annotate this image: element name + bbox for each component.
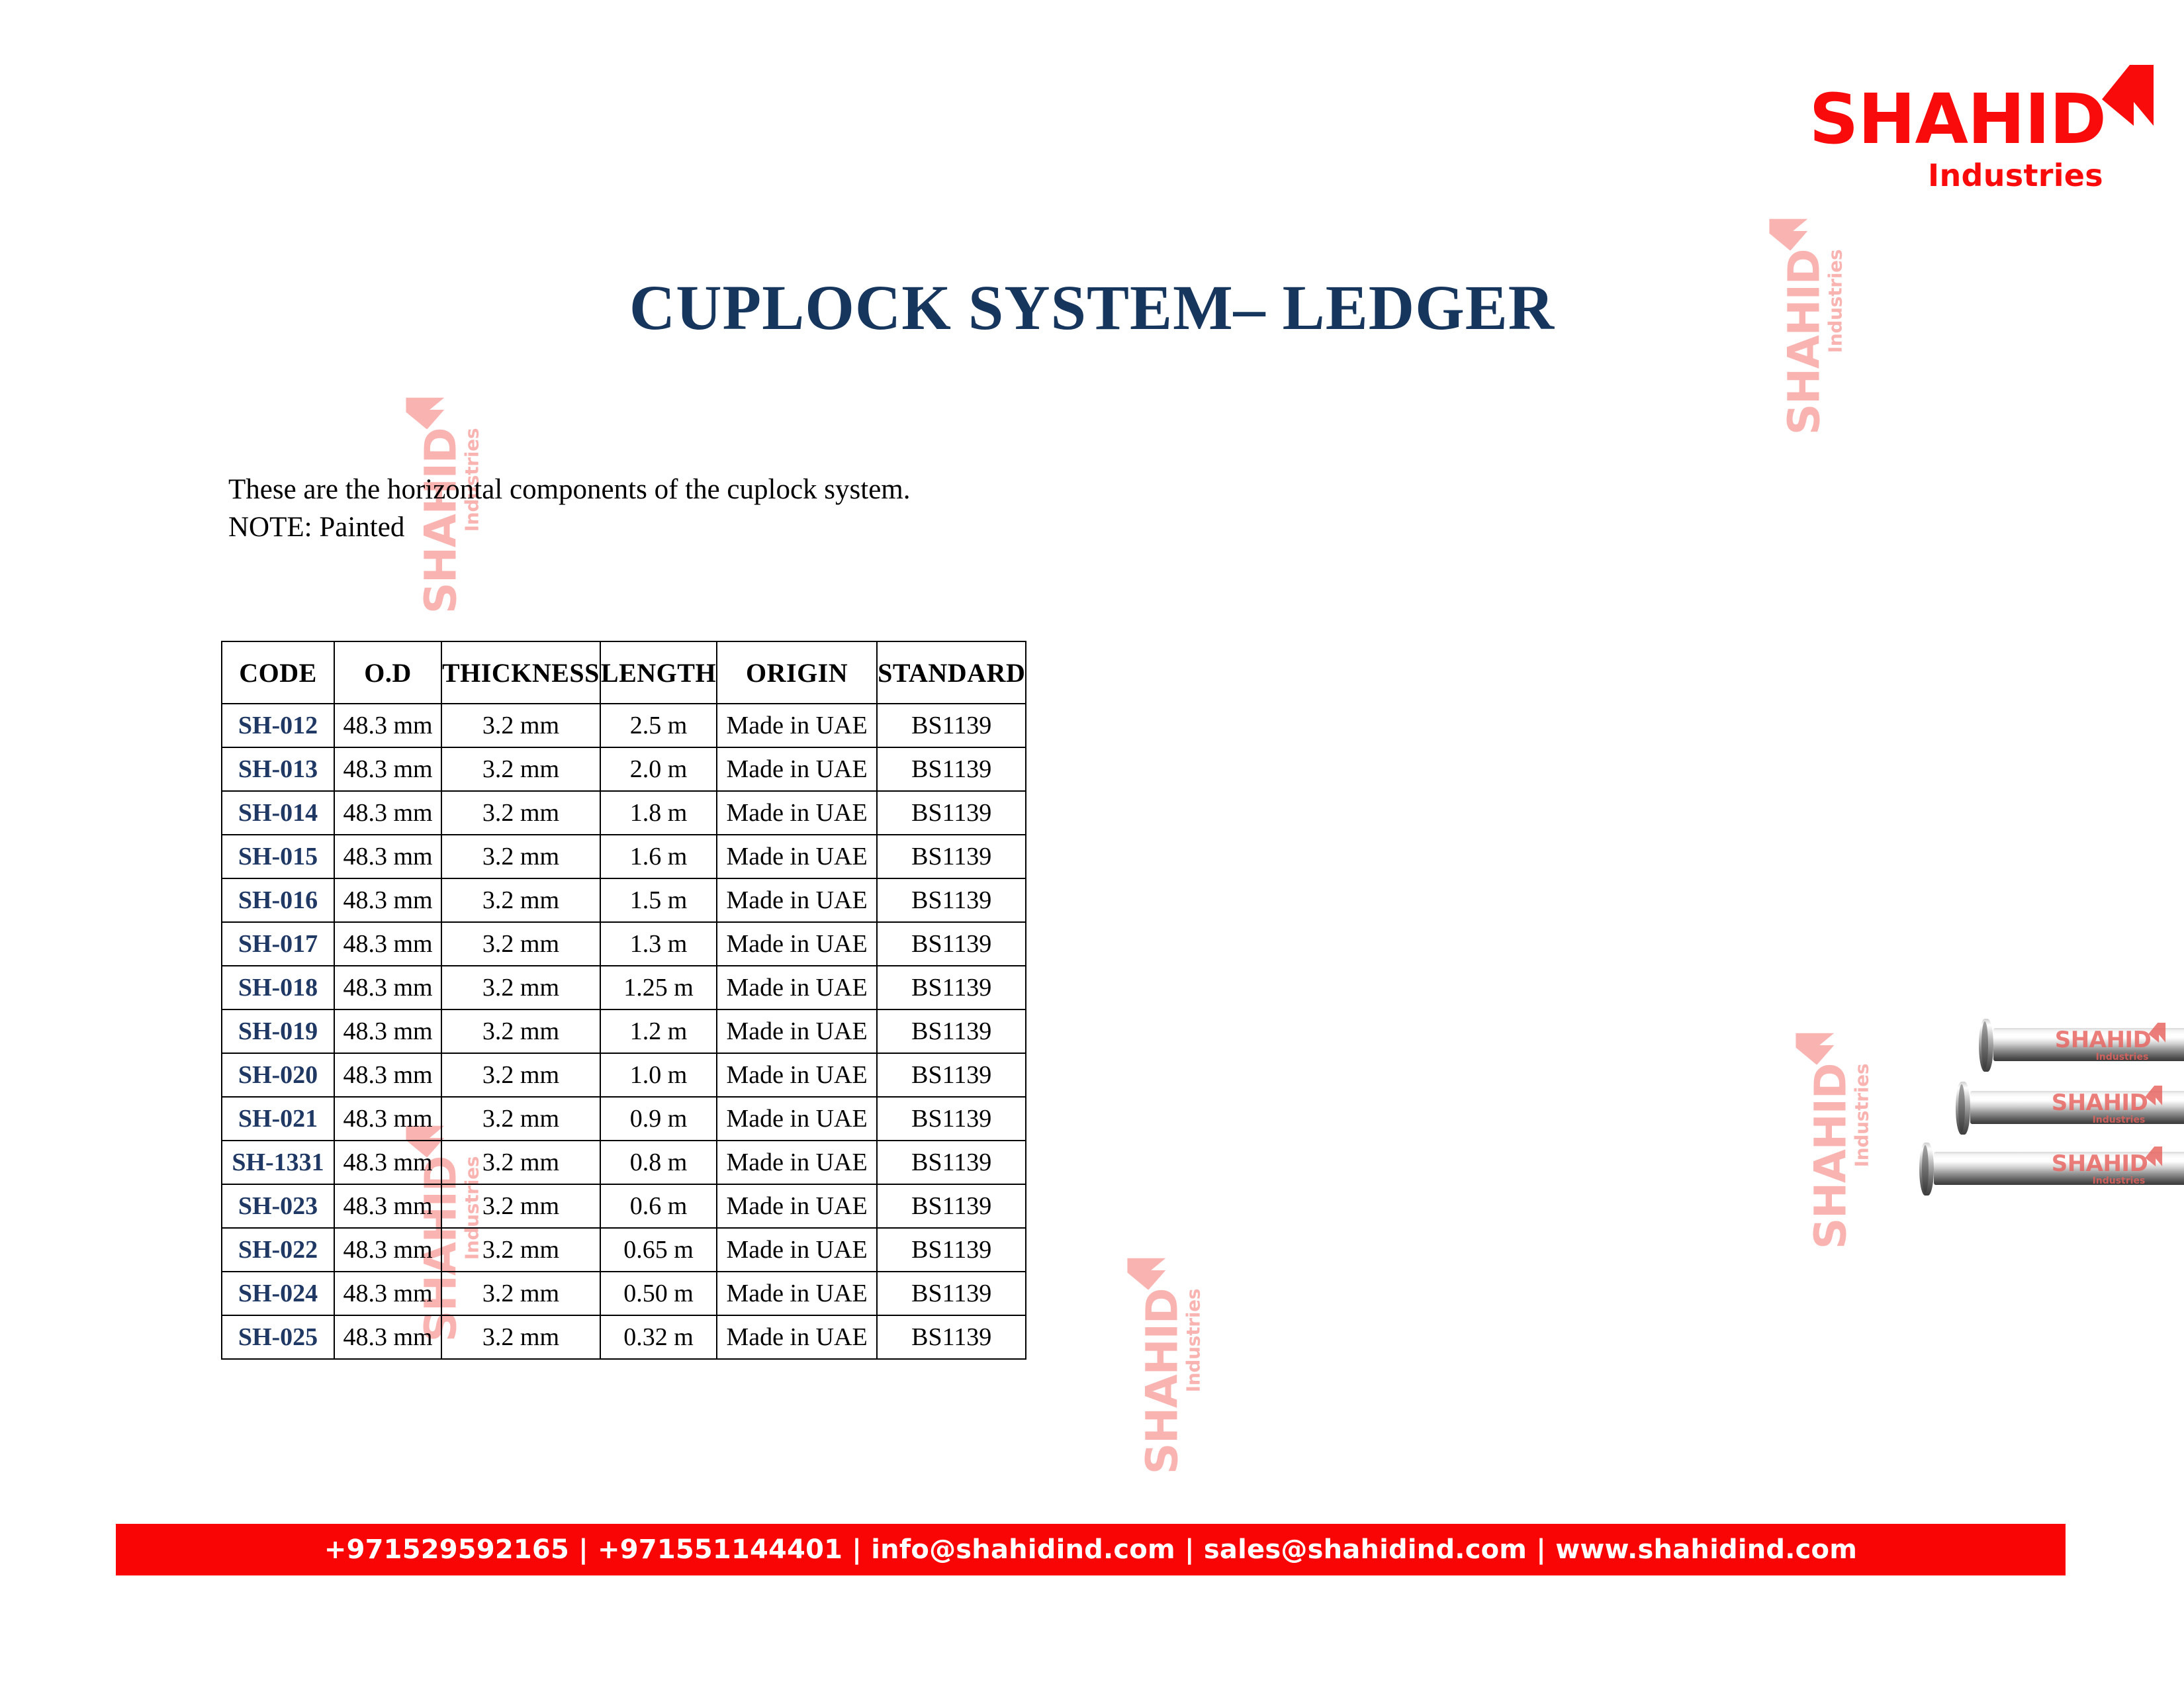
column-header-od: O.D [334,641,441,704]
cell-thickness: 3.2 mm [441,791,600,835]
logo-arrow-icon [2102,65,2154,126]
cell-od: 48.3 mm [334,704,441,747]
cell-origin: Made in UAE [717,1184,877,1228]
cell-code: SH-024 [222,1272,334,1315]
cell-origin: Made in UAE [717,1315,877,1359]
logo-brand-name-text: SHAHID [1809,79,2107,160]
cell-length: 1.2 m [600,1009,717,1053]
cell-length: 0.65 m [600,1228,717,1272]
cell-standard: BS1139 [877,1141,1026,1184]
table-row: SH-133148.3 mm3.2 mm0.8 mMade in UAEBS11… [222,1141,1026,1184]
table-header: CODE O.D THICKNESS LENGTH ORIGIN STANDAR… [222,641,1026,704]
cell-od: 48.3 mm [334,966,441,1009]
cell-code: SH-016 [222,878,334,922]
product-watermark-tagline: Industries [2055,1053,2149,1062]
ledger-end-plate-left [1922,1145,1929,1193]
product-watermark-arrow-icon [2145,1147,2162,1166]
cell-od: 48.3 mm [334,922,441,966]
cell-code: SH-015 [222,835,334,878]
cell-origin: Made in UAE [717,791,877,835]
cell-od: 48.3 mm [334,1141,441,1184]
cell-thickness: 3.2 mm [441,1053,600,1097]
cell-origin: Made in UAE [717,878,877,922]
cell-code: SH-1331 [222,1141,334,1184]
cell-code: SH-022 [222,1228,334,1272]
product-watermark-arrow-icon [2145,1086,2162,1105]
cell-length: 1.6 m [600,835,717,878]
cell-length: 1.0 m [600,1053,717,1097]
cell-od: 48.3 mm [334,1228,441,1272]
cell-standard: BS1139 [877,704,1026,747]
cell-origin: Made in UAE [717,922,877,966]
cell-code: SH-012 [222,704,334,747]
cell-thickness: 3.2 mm [441,747,600,791]
cell-length: 0.50 m [600,1272,717,1315]
cell-standard: BS1139 [877,791,1026,835]
cell-code: SH-025 [222,1315,334,1359]
cell-od: 48.3 mm [334,1184,441,1228]
product-watermark-brand: SHAHID [2052,1152,2148,1175]
cell-length: 0.8 m [600,1141,717,1184]
cell-code: SH-020 [222,1053,334,1097]
cell-length: 2.5 m [600,704,717,747]
cell-thickness: 3.2 mm [441,966,600,1009]
cell-thickness: 3.2 mm [441,1184,600,1228]
cell-thickness: 3.2 mm [441,1009,600,1053]
page-title-text: CUPLOCK SYSTEM– LEDGER [629,272,1555,343]
intro-line-2: NOTE: Painted [228,509,911,547]
cell-length: 0.32 m [600,1315,717,1359]
cell-od: 48.3 mm [334,835,441,878]
cell-code: SH-017 [222,922,334,966]
cell-code: SH-014 [222,791,334,835]
table-body: SH-01248.3 mm3.2 mm2.5 mMade in UAEBS113… [222,704,1026,1359]
cell-standard: BS1139 [877,747,1026,791]
product-watermark-brand-text: SHAHID [2055,1027,2152,1053]
cell-origin: Made in UAE [717,1009,877,1053]
table-row: SH-01548.3 mm3.2 mm1.6 mMade in UAEBS113… [222,835,1026,878]
cell-origin: Made in UAE [717,1228,877,1272]
cell-thickness: 3.2 mm [441,878,600,922]
cell-length: 1.3 m [600,922,717,966]
product-watermark-brand: SHAHID [2052,1092,2148,1114]
table-row: SH-01248.3 mm3.2 mm2.5 mMade in UAEBS113… [222,704,1026,747]
cell-standard: BS1139 [877,1228,1026,1272]
table-row: SH-02248.3 mm3.2 mm0.65 mMade in UAEBS11… [222,1228,1026,1272]
cell-od: 48.3 mm [334,878,441,922]
watermark-brand-tagline: Industries [1184,1289,1203,1475]
cell-od: 48.3 mm [334,1272,441,1315]
cell-standard: BS1139 [877,922,1026,966]
cell-standard: BS1139 [877,835,1026,878]
cell-thickness: 3.2 mm [441,1141,600,1184]
cell-code: SH-013 [222,747,334,791]
cell-origin: Made in UAE [717,1097,877,1141]
cell-od: 48.3 mm [334,747,441,791]
cell-thickness: 3.2 mm [441,1228,600,1272]
cell-standard: BS1139 [877,1184,1026,1228]
cell-thickness: 3.2 mm [441,1315,600,1359]
column-header-standard: STANDARD [877,641,1026,704]
table-row: SH-01448.3 mm3.2 mm1.8 mMade in UAEBS113… [222,791,1026,835]
cell-standard: BS1139 [877,1315,1026,1359]
table-row: SH-02348.3 mm3.2 mm0.6 mMade in UAEBS113… [222,1184,1026,1228]
cell-thickness: 3.2 mm [441,922,600,966]
table-row: SH-01748.3 mm3.2 mm1.3 mMade in UAEBS113… [222,922,1026,966]
column-header-length: LENGTH [600,641,717,704]
column-header-code: CODE [222,641,334,704]
company-logo: SHAHID Industries [1809,85,2107,191]
product-image-group: SHAHID Industries SHAHID [1291,695,2184,1172]
cell-length: 1.25 m [600,966,717,1009]
logo-brand-tagline: Industries [1809,160,2104,191]
watermark-brand-name: SHAHID [1140,1289,1184,1475]
logo-brand-name: SHAHID [1809,85,2107,154]
table-row: SH-01848.3 mm3.2 mm1.25 mMade in UAEBS11… [222,966,1026,1009]
cell-od: 48.3 mm [334,1097,441,1141]
cell-thickness: 3.2 mm [441,704,600,747]
cell-od: 48.3 mm [334,1053,441,1097]
cell-length: 0.6 m [600,1184,717,1228]
cell-thickness: 3.2 mm [441,1272,600,1315]
table-header-row: CODE O.D THICKNESS LENGTH ORIGIN STANDAR… [222,641,1026,704]
product-watermark: SHAHID Industries [2055,1029,2152,1062]
cell-standard: BS1139 [877,1009,1026,1053]
product-watermark-tagline: Industries [2052,1115,2146,1125]
page-title: CUPLOCK SYSTEM– LEDGER [0,271,2184,344]
table-row: SH-02448.3 mm3.2 mm0.50 mMade in UAEBS11… [222,1272,1026,1315]
cell-od: 48.3 mm [334,1009,441,1053]
product-watermark: SHAHID Industries [2052,1152,2148,1186]
cell-od: 48.3 mm [334,1315,441,1359]
watermark-arrow-icon [406,398,444,430]
column-header-thickness: THICKNESS [441,641,600,704]
cell-origin: Made in UAE [717,747,877,791]
cell-origin: Made in UAE [717,1272,877,1315]
footer-contact-text: +971529592165 | +971551144401 | info@sha… [324,1534,1857,1565]
cell-code: SH-021 [222,1097,334,1141]
table-row: SH-01648.3 mm3.2 mm1.5 mMade in UAEBS113… [222,878,1026,922]
cell-origin: Made in UAE [717,1053,877,1097]
table-row: SH-02048.3 mm3.2 mm1.0 mMade in UAEBS113… [222,1053,1026,1097]
product-ledger-long: SHAHID Industries [1919,1147,2184,1190]
cell-origin: Made in UAE [717,1141,877,1184]
watermark-arrow-icon [1769,219,1807,251]
watermark-arrow-icon [1127,1258,1165,1290]
product-watermark-arrow-icon [2148,1023,2165,1043]
cell-thickness: 3.2 mm [441,835,600,878]
table-row: SH-01348.3 mm3.2 mm2.0 mMade in UAEBS113… [222,747,1026,791]
intro-text: These are the horizontal components of t… [228,471,911,547]
cell-length: 1.8 m [600,791,717,835]
product-watermark-brand-text: SHAHID [2052,1090,2148,1116]
background-watermark-logo: SHAHID Industries [1140,1289,1203,1475]
product-watermark-tagline: Industries [2052,1176,2146,1186]
cell-standard: BS1139 [877,1097,1026,1141]
cell-od: 48.3 mm [334,791,441,835]
cell-code: SH-023 [222,1184,334,1228]
ledger-end-plate-left [1958,1084,1965,1132]
product-watermark: SHAHID Industries [2052,1092,2148,1125]
table-row: SH-02548.3 mm3.2 mm0.32 mMade in UAEBS11… [222,1315,1026,1359]
cell-length: 0.9 m [600,1097,717,1141]
cell-standard: BS1139 [877,966,1026,1009]
cell-length: 1.5 m [600,878,717,922]
product-watermark-brand-text: SHAHID [2052,1150,2148,1177]
cell-origin: Made in UAE [717,966,877,1009]
cell-length: 2.0 m [600,747,717,791]
product-ledger-medium: SHAHID Industries [1956,1086,2184,1129]
cell-standard: BS1139 [877,1272,1026,1315]
intro-line-1: These are the horizontal components of t… [228,471,911,509]
table-row: SH-01948.3 mm3.2 mm1.2 mMade in UAEBS113… [222,1009,1026,1053]
cell-code: SH-018 [222,966,334,1009]
ledger-end-plate-left [1981,1021,1988,1069]
cell-origin: Made in UAE [717,704,877,747]
table-row: SH-02148.3 mm3.2 mm0.9 mMade in UAEBS113… [222,1097,1026,1141]
product-ledger-short: SHAHID Industries [1979,1023,2184,1066]
cell-code: SH-019 [222,1009,334,1053]
specification-table: CODE O.D THICKNESS LENGTH ORIGIN STANDAR… [221,641,1026,1360]
cell-thickness: 3.2 mm [441,1097,600,1141]
cell-standard: BS1139 [877,878,1026,922]
cell-standard: BS1139 [877,1053,1026,1097]
footer-contact-bar: +971529592165 | +971551144401 | info@sha… [116,1524,2066,1575]
product-watermark-brand: SHAHID [2055,1029,2152,1051]
column-header-origin: ORIGIN [717,641,877,704]
cell-origin: Made in UAE [717,835,877,878]
